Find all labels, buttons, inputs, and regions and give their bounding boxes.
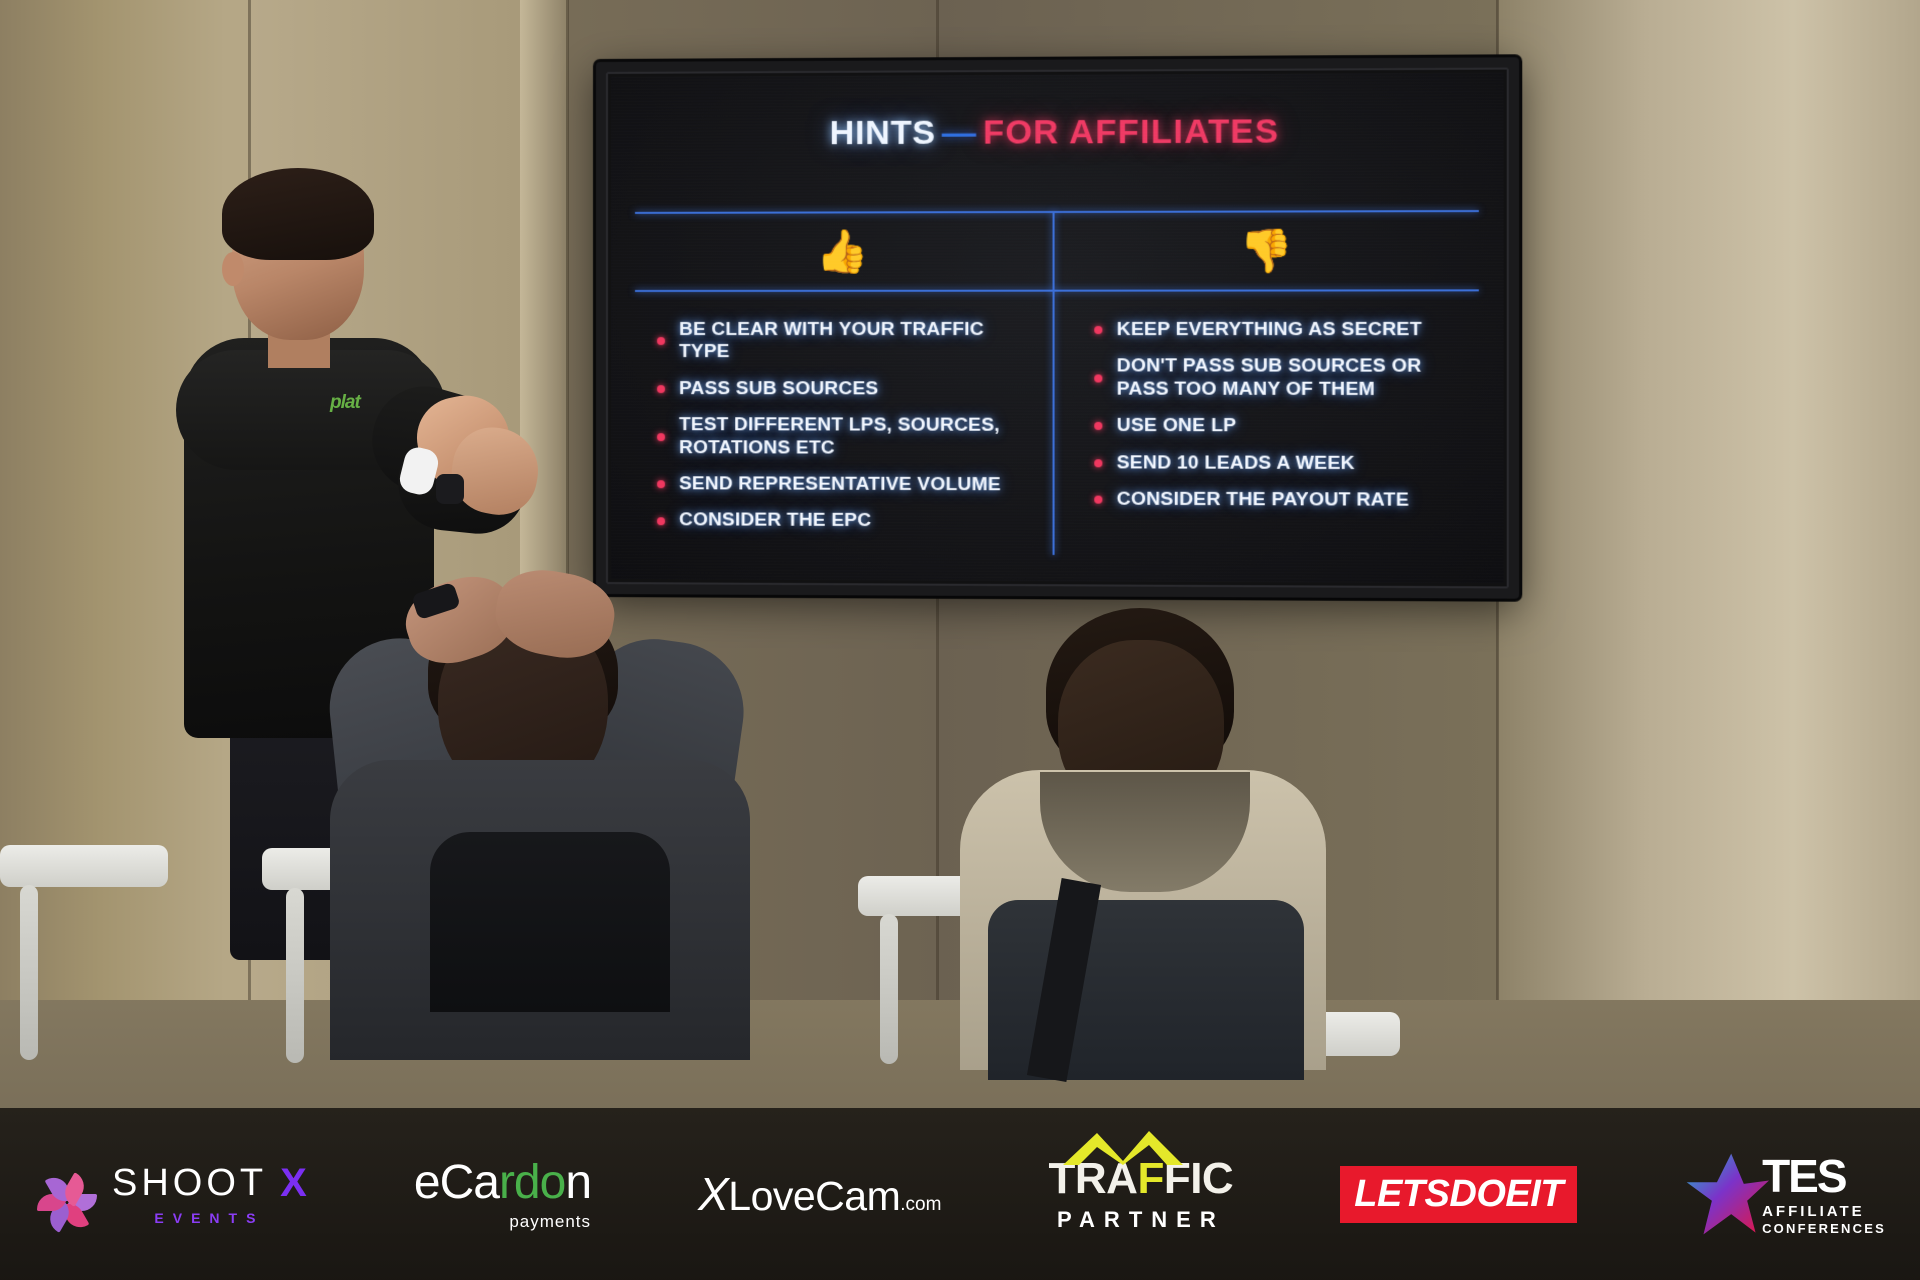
bullet-dot-icon — [657, 433, 665, 441]
shoot-x-wordmark: SHOOT X EVENTS — [112, 1163, 307, 1225]
list-item: SEND 10 LEADS A WEEK — [1090, 452, 1468, 476]
list-item-label: BE CLEAR WITH YOUR TRAFFIC TYPE — [679, 319, 1025, 364]
bullet-dot-icon — [1094, 326, 1102, 334]
thumbs-down-icon: 👎 — [1056, 215, 1479, 287]
logo-letsdoeit: LETSDOEIT — [1340, 1166, 1577, 1223]
sponsor-logo-bar: SHOOT X EVENTS eCardon payments XLoveCam… — [0, 1108, 1920, 1280]
bullet-dot-icon — [1094, 422, 1102, 430]
wall-panel-far-right — [1498, 0, 1920, 1000]
list-item: PASS SUB SOURCES — [653, 378, 1025, 401]
tes-name: TES — [1762, 1153, 1886, 1199]
list-item-label: TEST DIFFERENT LPS, SOURCES, ROTATIONS E… — [679, 414, 1025, 460]
screenshot-root: HINTS—FOR AFFILIATES 👍 👎 BE CLEAR WITH Y… — [0, 0, 1920, 1280]
chair-leg — [20, 885, 38, 1060]
slide-title-dash: — — [936, 113, 983, 151]
dont-column: KEEP EVERYTHING AS SECRET DON'T PASS SUB… — [1090, 305, 1468, 559]
speaker-watch — [436, 474, 464, 504]
list-item: CONSIDER THE EPC — [653, 510, 1025, 534]
speaker-hair — [222, 168, 374, 260]
ecardon-part-b: rdo — [499, 1156, 565, 1209]
mountain-peak-icon — [1063, 1131, 1183, 1165]
shoot-x-sub: EVENTS — [112, 1211, 307, 1225]
chair-leg — [880, 914, 898, 1064]
bullet-dot-icon — [657, 385, 665, 393]
shoot-x-name: SHOOT — [112, 1164, 267, 1202]
star-icon — [1684, 1152, 1770, 1236]
bullet-dot-icon — [1094, 459, 1102, 467]
xlovecam-x: X — [698, 1167, 728, 1221]
ecardon-part-a: eCa — [414, 1156, 499, 1209]
do-column: BE CLEAR WITH YOUR TRAFFIC TYPE PASS SUB… — [653, 305, 1025, 557]
chair-leg — [286, 888, 304, 1063]
ecardon-wordmark: eCardon payments — [414, 1159, 591, 1230]
ecardon-sub: payments — [509, 1213, 591, 1230]
xlovecam-name: LoveCam — [728, 1173, 900, 1220]
list-item-label: CONSIDER THE EPC — [679, 510, 871, 533]
pinwheel-icon — [34, 1161, 100, 1227]
logo-xlovecam: XLoveCam.com — [698, 1167, 941, 1221]
list-item-label: SEND REPRESENTATIVE VOLUME — [679, 473, 1001, 496]
chair — [0, 845, 168, 887]
logo-ecardon-payments: eCardon payments — [414, 1159, 591, 1230]
bullet-dot-icon — [1094, 496, 1102, 504]
logo-shoot-x-events: SHOOT X EVENTS — [34, 1161, 307, 1227]
table-rule-middle — [635, 289, 1479, 292]
shoot-x-mark: X — [280, 1163, 307, 1203]
slide-title: HINTS—FOR AFFILIATES — [611, 111, 1504, 154]
bullet-dot-icon — [657, 480, 665, 488]
xlovecam-wordmark: XLoveCam.com — [698, 1167, 941, 1221]
bullet-dot-icon — [657, 337, 665, 345]
list-item: TEST DIFFERENT LPS, SOURCES, ROTATIONS E… — [653, 414, 1025, 460]
tes-wordmark: TES AFFILIATE CONFERENCES — [1762, 1153, 1886, 1235]
list-item-label: KEEP EVERYTHING AS SECRET — [1117, 319, 1422, 342]
letsdoeit-wordmark: LETSDOEIT — [1354, 1173, 1563, 1216]
slide-title-hints: HINTS — [830, 114, 936, 153]
list-item: DON'T PASS SUB SOURCES OR PASS TOO MANY … — [1090, 356, 1468, 402]
bullet-dot-icon — [1094, 374, 1102, 382]
list-item-label: DON'T PASS SUB SOURCES OR PASS TOO MANY … — [1117, 356, 1469, 402]
xlovecam-domain: .com — [900, 1194, 941, 1216]
ecardon-part-c: n — [565, 1156, 591, 1209]
list-item: KEEP EVERYTHING AS SECRET — [1090, 319, 1468, 342]
list-item: BE CLEAR WITH YOUR TRAFFIC TYPE — [653, 319, 1025, 364]
logo-tes-affiliate-conferences: TES AFFILIATE CONFERENCES — [1684, 1152, 1886, 1236]
list-item-label: SEND 10 LEADS A WEEK — [1117, 452, 1355, 475]
slide: HINTS—FOR AFFILIATES 👍 👎 BE CLEAR WITH Y… — [611, 73, 1504, 584]
bullet-dot-icon — [657, 517, 665, 525]
tes-sub-affiliate: AFFILIATE — [1762, 1204, 1886, 1219]
thumbs-up-icon: 👍 — [635, 216, 1052, 287]
logo-traffic-partner: TRAFFIC PARTNER — [1049, 1157, 1234, 1231]
table-rule-top — [635, 210, 1479, 214]
list-item-label: CONSIDER THE PAYOUT RATE — [1117, 489, 1409, 513]
traffic-partner-wordmark: TRAFFIC PARTNER — [1049, 1157, 1234, 1231]
speaker-ear — [222, 252, 244, 286]
list-item-label: USE ONE LP — [1117, 415, 1237, 438]
traffic-sub: PARTNER — [1057, 1209, 1225, 1231]
list-item: SEND REPRESENTATIVE VOLUME — [653, 473, 1025, 497]
table-rule-vertical — [1053, 211, 1055, 555]
slide-title-for-affiliates: FOR AFFILIATES — [983, 112, 1279, 151]
tes-sub-conferences: CONFERENCES — [1762, 1222, 1886, 1235]
list-item-label: PASS SUB SOURCES — [679, 378, 878, 401]
audience-center-collar — [430, 832, 670, 1012]
list-item: USE ONE LP — [1090, 415, 1468, 438]
list-item: CONSIDER THE PAYOUT RATE — [1090, 489, 1468, 513]
presentation-display: HINTS—FOR AFFILIATES 👍 👎 BE CLEAR WITH Y… — [596, 57, 1519, 598]
